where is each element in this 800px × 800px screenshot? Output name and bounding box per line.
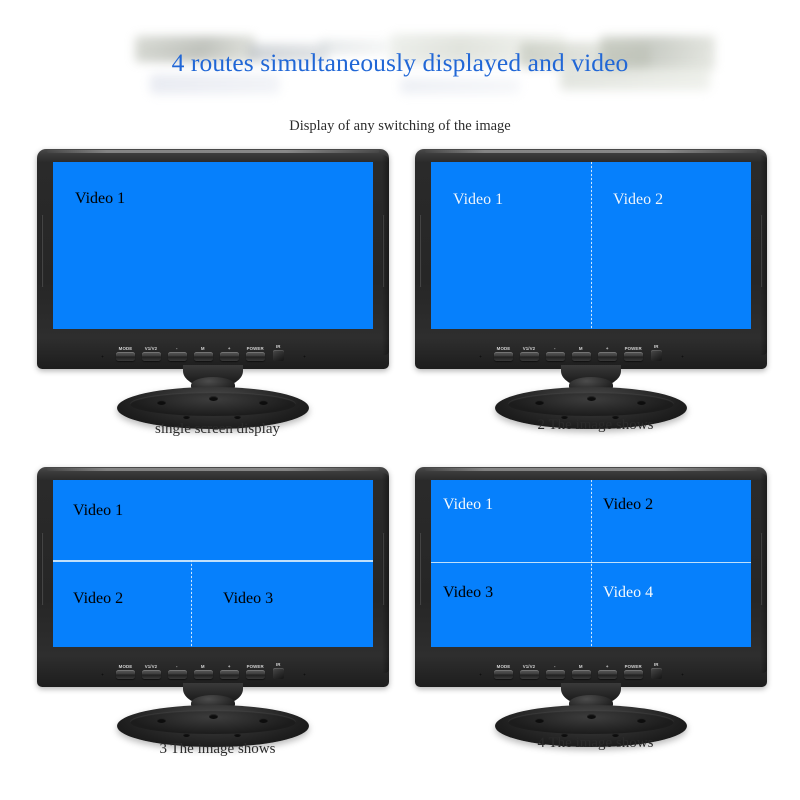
screen-pane-label: Video 1 — [75, 190, 125, 208]
v1v2-button[interactable]: V1/V2 — [519, 664, 539, 680]
monitor-screen: Video 1 Video 2 Video 3 — [53, 480, 373, 647]
screen-divider-vertical — [591, 162, 592, 329]
button-cap — [246, 352, 265, 361]
screen-pane-label: Video 2 — [603, 496, 653, 514]
screen-pane-label: Video 1 — [453, 191, 503, 209]
menu-button[interactable]: M — [571, 664, 591, 680]
button-cap — [168, 352, 187, 361]
mode-button[interactable]: MODE — [115, 664, 135, 680]
screen-pane-label: Video 3 — [223, 590, 273, 608]
button-row: MODE V1/V2 - M — [493, 344, 663, 362]
watermark-smudge — [400, 78, 520, 94]
minus-button[interactable]: - — [545, 346, 565, 362]
button-cap — [598, 670, 617, 679]
status-led — [681, 355, 684, 358]
ir-sensor: IR — [649, 662, 663, 680]
mount-hole — [637, 400, 646, 405]
monitor-caption-3: 3 The image shows — [30, 741, 405, 758]
minus-button-label: - — [176, 345, 178, 350]
monitor-cell-2: Video 1 Video 2 MODE V1/V2 — [408, 145, 783, 455]
page-subtitle: Display of any switching of the image — [0, 118, 800, 135]
mode-button-label: MODE — [118, 663, 132, 668]
monitor-cell-4: Video 1 Video 2 Video 3 Video 4 MODE — [408, 463, 783, 773]
mount-hole — [259, 718, 268, 723]
screen-divider-vertical — [191, 560, 192, 647]
button-cap — [494, 352, 513, 361]
monitor-screen: Video 1 Video 2 — [431, 162, 751, 329]
menu-button-label: M — [201, 345, 205, 350]
page-header: 4 routes simultaneously displayed and vi… — [0, 0, 800, 108]
power-button[interactable]: POWER — [245, 664, 265, 680]
button-cap — [246, 670, 265, 679]
button-row: MODE V1/V2 - M — [115, 344, 285, 362]
button-cap — [194, 352, 213, 361]
ir-sensor-label: IR — [654, 343, 659, 348]
ir-sensor: IR — [271, 344, 285, 362]
minus-button[interactable]: - — [545, 664, 565, 680]
plus-button-label: + — [606, 345, 609, 350]
plus-button-label: + — [228, 663, 231, 668]
monitor-4: Video 1 Video 2 Video 3 Video 4 MODE — [415, 467, 767, 687]
product-feature-page: 4 routes simultaneously displayed and vi… — [0, 0, 800, 800]
button-cap — [220, 352, 239, 361]
v1v2-button-label: V1/V2 — [523, 663, 536, 668]
power-button-label: POWER — [246, 345, 263, 350]
button-row: MODE V1/V2 - M — [115, 662, 285, 680]
bezel-groove-right — [760, 533, 763, 605]
minus-button-label: - — [554, 345, 556, 350]
menu-button-label: M — [201, 663, 205, 668]
page-title: 4 routes simultaneously displayed and vi… — [0, 48, 800, 78]
button-cap — [194, 670, 213, 679]
mount-hole — [183, 733, 190, 737]
v1v2-button-label: V1/V2 — [523, 345, 536, 350]
v1v2-button-label: V1/V2 — [145, 663, 158, 668]
ir-sensor-label: IR — [654, 661, 659, 666]
power-button-label: POWER — [624, 663, 641, 668]
mount-hole — [209, 714, 218, 719]
power-button[interactable]: POWER — [623, 664, 643, 680]
plus-button[interactable]: + — [219, 664, 239, 680]
monitor-caption-2: 2 The image shows — [408, 417, 783, 434]
monitor-screen: Video 1 — [53, 162, 373, 329]
monitor-cell-1: Video 1 MODE V1/V2 — [30, 145, 405, 455]
screen-pane-label: Video 1 — [73, 502, 123, 520]
monitor-2: Video 1 Video 2 MODE V1/V2 — [415, 149, 767, 369]
mount-hole — [259, 400, 268, 405]
monitor-caption-4: 4 The image shows — [408, 735, 783, 752]
screen-pane-label: Video 4 — [603, 584, 653, 602]
monitor-screen: Video 1 Video 2 Video 3 Video 4 — [431, 480, 751, 647]
mount-hole — [637, 718, 646, 723]
mount-hole — [535, 400, 544, 405]
button-cap — [142, 352, 161, 361]
button-cap — [168, 670, 187, 679]
ir-sensor: IR — [271, 662, 285, 680]
mode-button[interactable]: MODE — [493, 346, 513, 362]
bezel-groove-right — [382, 533, 385, 605]
mount-hole — [587, 714, 596, 719]
monitor-cell-3: Video 1 Video 2 Video 3 MODE V1 — [30, 463, 405, 773]
menu-button[interactable]: M — [193, 346, 213, 362]
monitor-caption-1: single screen display — [30, 421, 405, 438]
screen-pane-label: Video 1 — [443, 496, 493, 514]
monitor-3: Video 1 Video 2 Video 3 MODE V1 — [37, 467, 389, 687]
power-button[interactable]: POWER — [245, 346, 265, 362]
screen-divider-vertical — [591, 480, 592, 647]
ir-sensor: IR — [649, 344, 663, 362]
button-cap — [116, 670, 135, 679]
button-cap — [520, 352, 539, 361]
minus-button-label: - — [554, 663, 556, 668]
control-bar: MODE V1/V2 - M — [415, 649, 767, 687]
mount-hole — [209, 396, 218, 401]
ir-window — [273, 668, 284, 679]
screen-pane-label: Video 2 — [73, 590, 123, 608]
mount-hole — [234, 733, 241, 737]
minus-button-label: - — [176, 663, 178, 668]
button-cap — [546, 352, 565, 361]
status-led — [303, 355, 306, 358]
mode-button[interactable]: MODE — [493, 664, 513, 680]
mode-button-label: MODE — [496, 663, 510, 668]
control-bar: MODE V1/V2 - M — [37, 331, 389, 369]
v1v2-button-label: V1/V2 — [145, 345, 158, 350]
power-button-label: POWER — [624, 345, 641, 350]
button-cap — [116, 352, 135, 361]
plus-button[interactable]: + — [597, 664, 617, 680]
ir-window — [651, 668, 662, 679]
mount-hole — [157, 400, 166, 405]
control-bar: MODE V1/V2 - M — [37, 649, 389, 687]
bezel-groove-left — [419, 533, 422, 605]
button-cap — [572, 670, 591, 679]
screen-divider-horizontal — [53, 560, 373, 562]
status-led — [681, 673, 684, 676]
menu-button[interactable]: M — [571, 346, 591, 362]
bezel-groove-right — [760, 215, 763, 287]
ir-sensor-label: IR — [276, 343, 281, 348]
button-cap — [624, 352, 643, 361]
menu-button[interactable]: M — [193, 664, 213, 680]
ir-window — [273, 350, 284, 361]
control-bar: MODE V1/V2 - M — [415, 331, 767, 369]
button-cap — [572, 352, 591, 361]
bezel-groove-left — [419, 215, 422, 287]
mode-button[interactable]: MODE — [115, 346, 135, 362]
button-cap — [220, 670, 239, 679]
plus-button[interactable]: + — [219, 346, 239, 362]
status-led — [479, 355, 482, 358]
ir-sensor-label: IR — [276, 661, 281, 666]
power-button[interactable]: POWER — [623, 346, 643, 362]
button-cap — [624, 670, 643, 679]
mount-hole — [234, 415, 241, 419]
button-cap — [494, 670, 513, 679]
minus-button[interactable]: - — [167, 346, 187, 362]
button-cap — [520, 670, 539, 679]
button-cap — [142, 670, 161, 679]
mount-hole — [157, 718, 166, 723]
mode-button-label: MODE — [496, 345, 510, 350]
bezel-groove-left — [41, 215, 44, 287]
bezel-groove-left — [41, 533, 44, 605]
bezel-groove-right — [382, 215, 385, 287]
mount-hole — [183, 415, 190, 419]
monitor-grid: Video 1 MODE V1/V2 — [0, 145, 800, 800]
v1v2-button[interactable]: V1/V2 — [141, 346, 161, 362]
power-button-label: POWER — [246, 663, 263, 668]
status-led — [479, 673, 482, 676]
button-cap — [546, 670, 565, 679]
plus-button[interactable]: + — [597, 346, 617, 362]
v1v2-button[interactable]: V1/V2 — [519, 346, 539, 362]
plus-button-label: + — [228, 345, 231, 350]
button-cap — [598, 352, 617, 361]
status-led — [101, 673, 104, 676]
screen-pane-label: Video 2 — [613, 191, 663, 209]
menu-button-label: M — [579, 663, 583, 668]
mount-hole — [535, 718, 544, 723]
minus-button[interactable]: - — [167, 664, 187, 680]
v1v2-button[interactable]: V1/V2 — [141, 664, 161, 680]
menu-button-label: M — [579, 345, 583, 350]
ir-window — [651, 350, 662, 361]
status-led — [101, 355, 104, 358]
screen-pane-label: Video 3 — [443, 584, 493, 602]
mount-hole — [587, 396, 596, 401]
monitor-1: Video 1 MODE V1/V2 — [37, 149, 389, 369]
mode-button-label: MODE — [118, 345, 132, 350]
plus-button-label: + — [606, 663, 609, 668]
status-led — [303, 673, 306, 676]
button-row: MODE V1/V2 - M — [493, 662, 663, 680]
